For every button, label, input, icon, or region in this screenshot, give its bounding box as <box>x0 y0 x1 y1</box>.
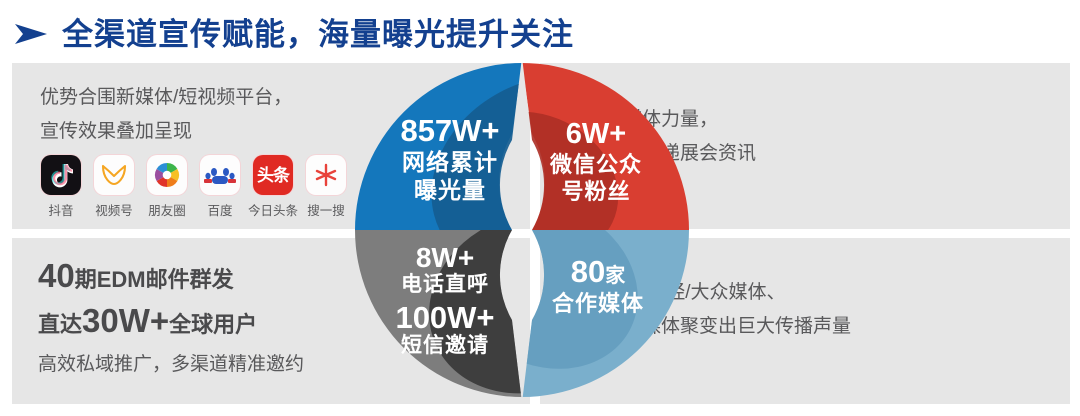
bottom-right-line-2: 行业垂直媒体聚变出巨大传播声量 <box>566 310 851 344</box>
app-label-moments: 朋友圈 <box>148 200 186 219</box>
app-item-sousou[interactable]: 搜一搜 <box>305 155 347 219</box>
bottom-right-text: 网罗新闻/产经/大众媒体、 行业垂直媒体聚变出巨大传播声量 <box>566 276 851 344</box>
douyin-icon <box>41 155 81 195</box>
toutiao-icon: 头条 <box>253 155 293 195</box>
sousou-icon <box>306 155 346 195</box>
app-label-baidu: 百度 <box>207 200 232 219</box>
panel-top-right: 打造自媒体力量， 高频多维传递展会资讯 <box>540 63 1070 229</box>
wechat-moments-icon <box>147 155 187 195</box>
panel-grid: 优势合围新媒体/短视频平台， 宣传效果叠加呈现 抖音 <box>12 63 1070 404</box>
arrow-right-icon <box>14 23 48 45</box>
app-label-sousou: 搜一搜 <box>307 200 345 219</box>
top-right-line-1: 打造自媒体力量， <box>566 103 756 137</box>
edm-count-suffix: 期EDM邮件群发 <box>75 267 234 292</box>
app-item-moments[interactable]: 朋友圈 <box>146 155 188 219</box>
wechat-channels-icon <box>94 155 134 195</box>
page-title: 全渠道宣传赋能，海量曝光提升关注 <box>62 19 574 50</box>
top-left-text: 优势合围新媒体/短视频平台， 宣传效果叠加呈现 <box>40 81 292 149</box>
panel-top-left: 优势合围新媒体/短视频平台， 宣传效果叠加呈现 抖音 <box>12 63 530 229</box>
top-left-line-1: 优势合围新媒体/短视频平台， <box>40 81 292 115</box>
bottom-right-line-1: 网罗新闻/产经/大众媒体、 <box>566 276 851 310</box>
top-right-line-2: 高频多维传递展会资讯 <box>566 137 756 171</box>
edm-line-3: 高效私域推广，多渠道精准邀约 <box>38 346 304 384</box>
app-label-channels: 视频号 <box>95 200 133 219</box>
top-left-line-2: 宣传效果叠加呈现 <box>40 115 292 149</box>
app-item-toutiao[interactable]: 头条 今日头条 <box>252 155 294 219</box>
edm-line-1: 40期EDM邮件群发 <box>38 256 304 300</box>
app-label-toutiao: 今日头条 <box>248 200 298 219</box>
top-right-text: 打造自媒体力量， 高频多维传递展会资讯 <box>566 103 756 171</box>
bottom-left-text: 40期EDM邮件群发 直达30W+全球用户 高效私域推广，多渠道精准邀约 <box>38 256 304 384</box>
baidu-icon <box>200 155 240 195</box>
app-item-douyin[interactable]: 抖音 <box>40 155 82 219</box>
page-title-row: 全渠道宣传赋能，海量曝光提升关注 <box>14 12 574 56</box>
edm-reach-value: 30W+ <box>82 302 169 339</box>
app-label-douyin: 抖音 <box>48 200 73 219</box>
app-item-channels[interactable]: 视频号 <box>93 155 135 219</box>
edm-reach-prefix: 直达 <box>38 312 82 337</box>
panel-bottom-left: 40期EDM邮件群发 直达30W+全球用户 高效私域推广，多渠道精准邀约 <box>12 238 530 404</box>
app-icon-row: 抖音 视频号 <box>40 155 347 219</box>
edm-reach-suffix: 全球用户 <box>169 312 257 337</box>
edm-count: 40 <box>38 257 75 294</box>
edm-line-2: 直达30W+全球用户 <box>38 300 304 346</box>
app-item-baidu[interactable]: 百度 <box>199 155 241 219</box>
panel-bottom-right: 网罗新闻/产经/大众媒体、 行业垂直媒体聚变出巨大传播声量 <box>540 238 1070 404</box>
